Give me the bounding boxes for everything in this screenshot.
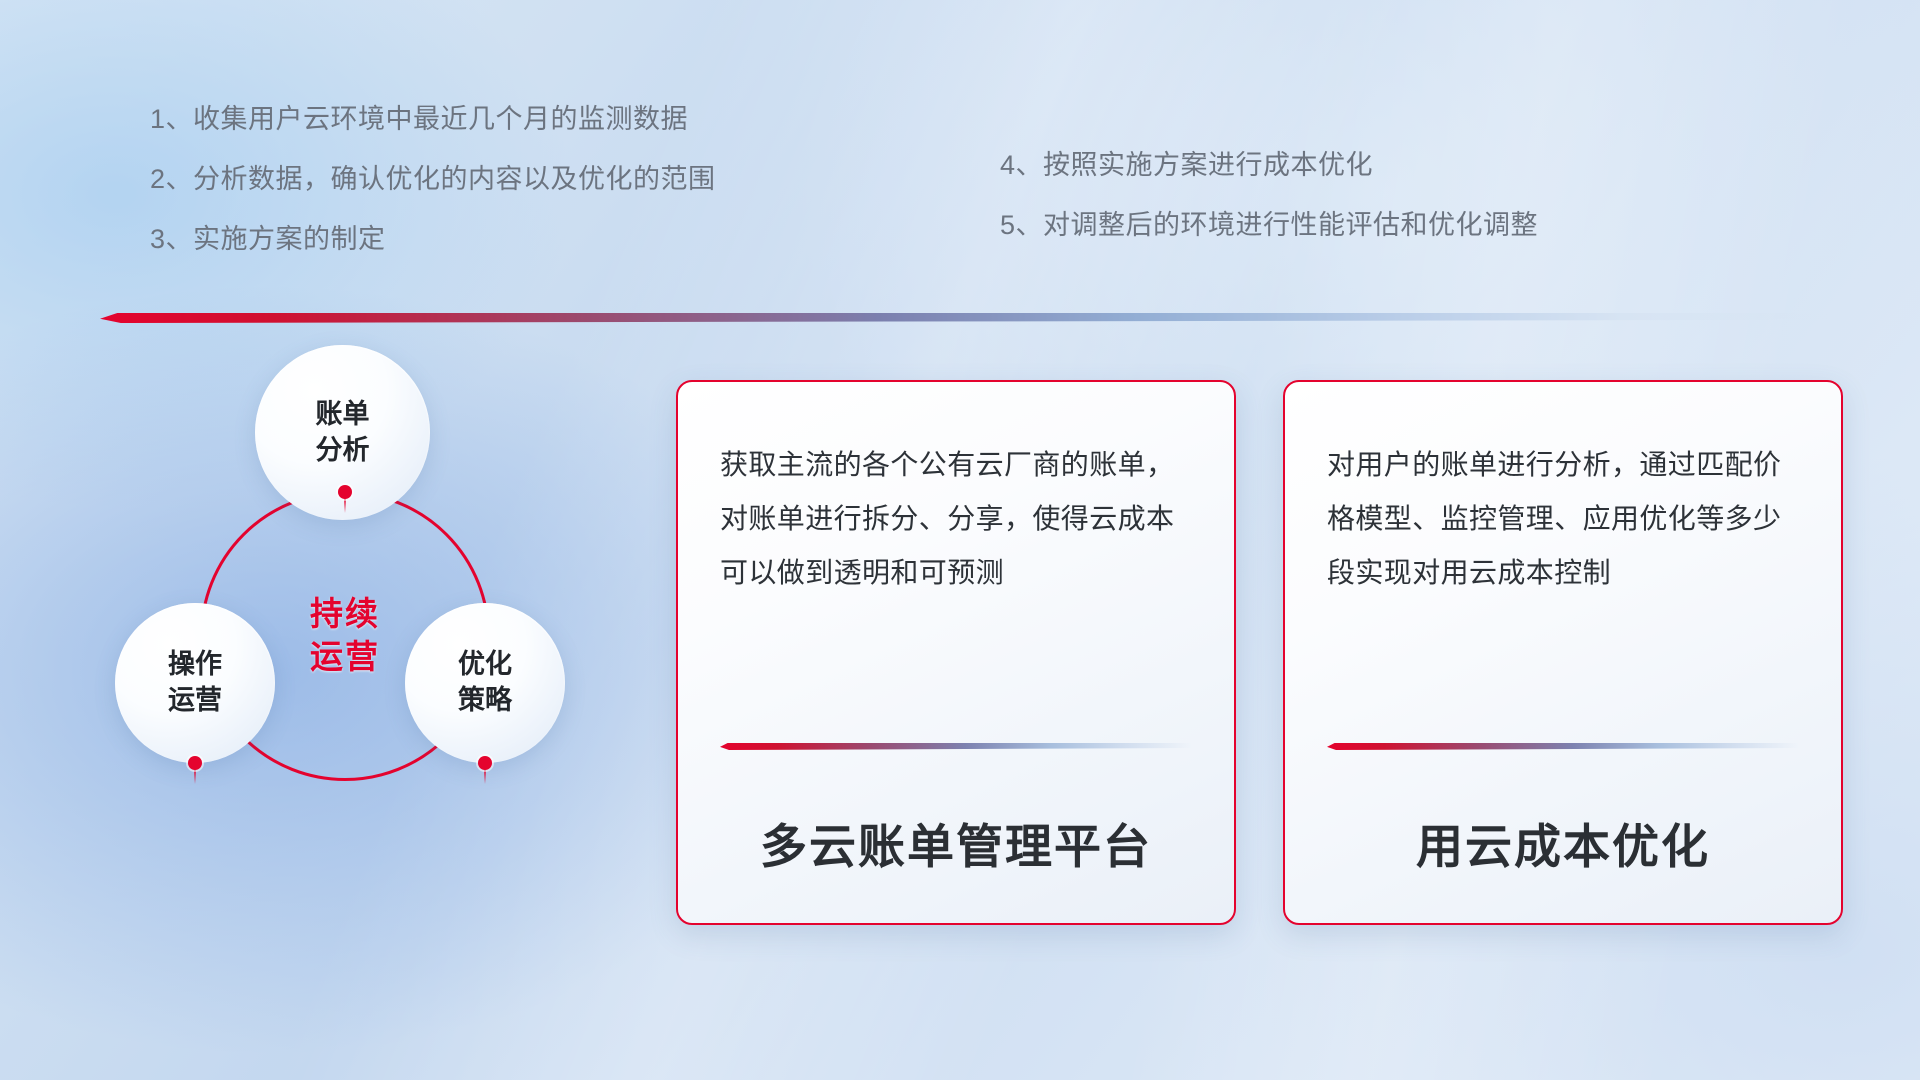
node-connector-left bbox=[194, 768, 196, 784]
slide-canvas: 1、收集用户云环境中最近几个月的监测数据 2、分析数据，确认优化的内容以及优化的… bbox=[0, 0, 1920, 1080]
feature-card-cost-optimization[interactable]: 对用户的账单进行分析，通过匹配价格模型、监控管理、应用优化等多少段实现对用云成本… bbox=[1283, 380, 1843, 925]
node-top-line-1: 账单 bbox=[316, 397, 370, 433]
center-ring-label: 持续 运营 bbox=[200, 491, 490, 781]
step-item-5: 5、对调整后的环境进行性能评估和优化调整 bbox=[1000, 212, 1538, 239]
continuous-operation-diagram: 持续 运营 账单 分析 操作 运营 优化 策略 bbox=[100, 345, 660, 945]
node-dot-top-icon bbox=[338, 485, 352, 499]
center-label-line-2: 运营 bbox=[310, 636, 380, 679]
node-dot-right-icon bbox=[478, 756, 492, 770]
node-dot-left-icon bbox=[188, 756, 202, 770]
node-connector-top bbox=[344, 497, 346, 513]
step-item-1: 1、收集用户云环境中最近几个月的监测数据 bbox=[150, 106, 716, 133]
feature-card-multicloud-billing[interactable]: 获取主流的各个公有云厂商的账单，对账单进行拆分、分享，使得云成本可以做到透明和可… bbox=[676, 380, 1236, 925]
steps-right-column: 4、按照实施方案进行成本优化 5、对调整后的环境进行性能评估和优化调整 bbox=[1000, 152, 1538, 272]
card-1-rule bbox=[720, 743, 1192, 750]
step-item-3: 3、实施方案的制定 bbox=[150, 226, 716, 253]
card-2-title: 用云成本优化 bbox=[1327, 750, 1799, 923]
step-item-2: 2、分析数据，确认优化的内容以及优化的范围 bbox=[150, 166, 716, 193]
node-top-line-2: 分析 bbox=[316, 433, 370, 469]
card-2-rule bbox=[1327, 743, 1799, 750]
step-item-4: 4、按照实施方案进行成本优化 bbox=[1000, 152, 1538, 179]
section-divider bbox=[100, 313, 1830, 323]
steps-left-column: 1、收集用户云环境中最近几个月的监测数据 2、分析数据，确认优化的内容以及优化的… bbox=[150, 106, 716, 286]
card-2-body: 对用户的账单进行分析，通过匹配价格模型、监控管理、应用优化等多少段实现对用云成本… bbox=[1327, 438, 1799, 733]
node-connector-right bbox=[484, 768, 486, 784]
card-1-title: 多云账单管理平台 bbox=[720, 750, 1192, 923]
card-1-body: 获取主流的各个公有云厂商的账单，对账单进行拆分、分享，使得云成本可以做到透明和可… bbox=[720, 438, 1192, 733]
center-label-line-1: 持续 bbox=[310, 593, 380, 636]
